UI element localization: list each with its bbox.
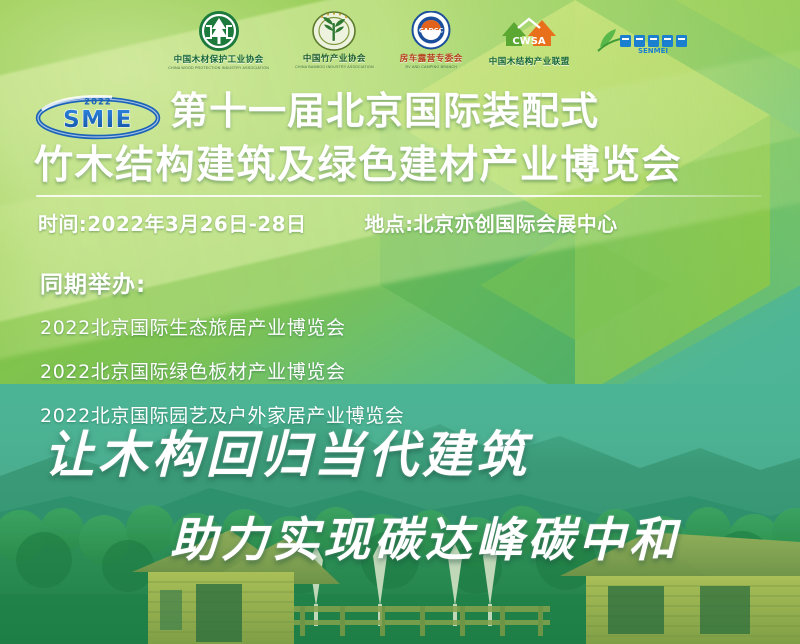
- slogan-line-1: 让木构回归当代建筑: [44, 415, 800, 487]
- list-item: 2022北京国际绿色板材产业博览会: [40, 357, 560, 384]
- logo-cwsa-wood-structure-alliance[interactable]: CWSA 中国木结构产业联盟: [489, 9, 570, 71]
- title-line-1: 第十一届北京国际装配式: [170, 92, 599, 131]
- concurrent-list: 2022北京国际生态旅居产业博览会 2022北京国际绿色板材产业博览会 2022…: [40, 313, 560, 428]
- smie-year-text: 2022: [84, 98, 112, 108]
- cadcc-abbr-text: CADCC: [419, 27, 444, 35]
- headline-block: 2022 SMIE 第十一届北京国际装配式 竹木结构建筑及绿色建材产业博览会 时…: [34, 92, 774, 237]
- logo-china-bamboo-industry-association[interactable]: 中国竹产业协会 CHINA BAMBOO INDUSTRY ASSOCIATIO…: [295, 9, 374, 71]
- slogan-line-2: 助力实现碳达峰碳中和: [170, 501, 800, 570]
- logo-label-en: RV AND CAMPING BRANCH: [406, 65, 457, 69]
- smie-logo[interactable]: 2022 SMIE: [34, 94, 162, 140]
- smie-wordmark-text: SMIE: [63, 107, 133, 133]
- senmei-wordmark-text: SENMEI: [638, 47, 668, 55]
- logo-label-cn: 房车露营专委会: [400, 52, 463, 64]
- cadcc-round-emblem-icon: CADCC: [410, 11, 452, 51]
- logo-label-en: CHINA WOOD PROTECTION INDUSTRY ASSOCIATI…: [168, 66, 269, 70]
- expo-banner: 中国木材保护工业协会 CHINA WOOD PROTECTION INDUSTR…: [0, 0, 800, 644]
- logo-senmei[interactable]: SENMEI: [596, 9, 692, 71]
- logo-cadcc-rv-camping-committee[interactable]: CADCC 房车露营专委会 RV AND CAMPING BRANCH: [400, 9, 463, 71]
- event-venue: 地点:北京亦创国际会展中心: [364, 208, 617, 237]
- title-line-2: 竹木结构建筑及绿色建材产业博览会: [34, 146, 774, 186]
- event-date: 时间:2022年3月26日-28日: [38, 208, 306, 237]
- house-roof-emblem-icon: CWSA: [498, 14, 560, 54]
- logo-label-cn: 中国木材保护工业协会: [174, 53, 264, 65]
- logo-label-cn: 中国木结构产业联盟: [489, 55, 570, 67]
- leaf-wordmark-icon: SENMEI: [596, 25, 692, 55]
- sponsor-logo-strip: 中国木材保护工业协会 CHINA WOOD PROTECTION INDUSTR…: [0, 0, 800, 80]
- cwsa-abbr-text: CWSA: [513, 36, 547, 47]
- logo-label-cn: 中国竹产业协会: [303, 52, 366, 64]
- concurrent-heading: 同期举办:: [40, 265, 560, 299]
- event-meta-row: 时间:2022年3月26日-28日 地点:北京亦创国际会展中心: [38, 208, 774, 237]
- tree-shield-emblem-icon: [198, 10, 240, 52]
- logo-label-en: CHINA BAMBOO INDUSTRY ASSOCIATION: [295, 65, 374, 69]
- slogan-block: 让木构回归当代建筑 助力实现碳达峰碳中和: [0, 415, 800, 570]
- title-divider: [36, 195, 762, 197]
- title-row: 2022 SMIE 第十一届北京国际装配式: [34, 92, 774, 140]
- list-item: 2022北京国际生态旅居产业博览会: [40, 313, 560, 340]
- logo-china-wood-protection-industry-association[interactable]: 中国木材保护工业协会 CHINA WOOD PROTECTION INDUSTR…: [168, 9, 269, 71]
- bamboo-oval-emblem-icon: [312, 11, 356, 51]
